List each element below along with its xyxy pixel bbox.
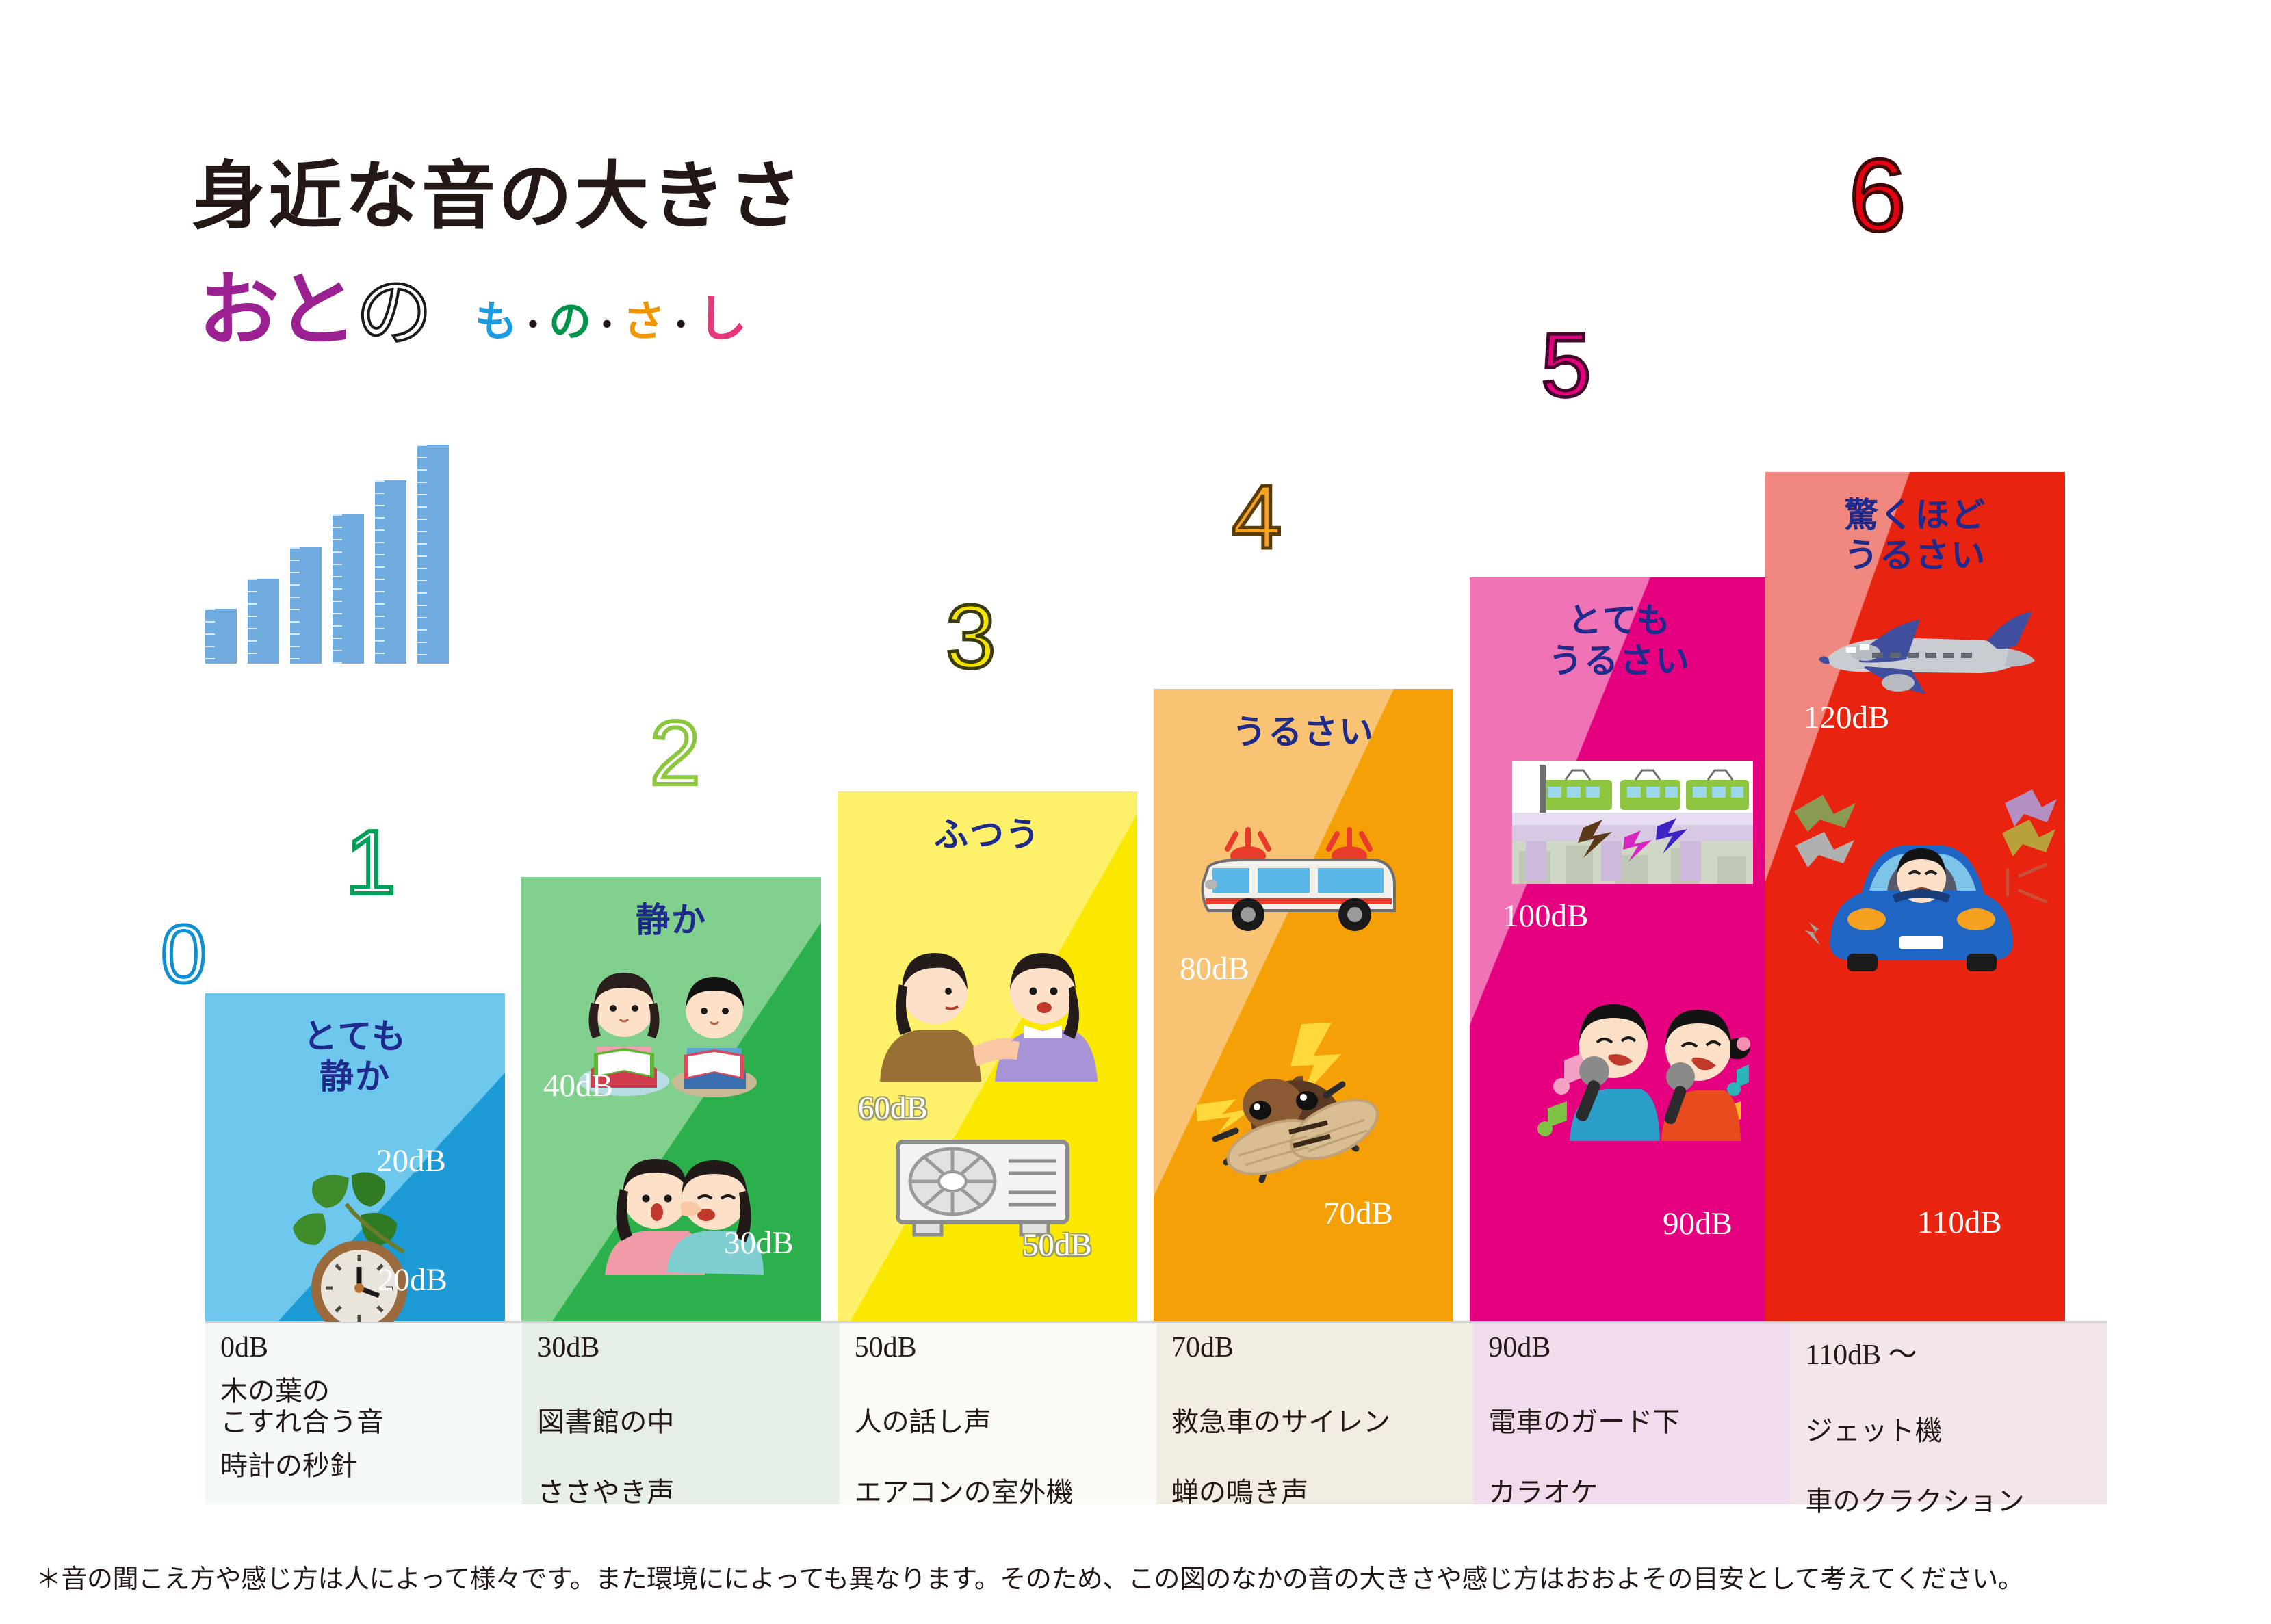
sound-source-table: 0dB 木の葉の こすれ合う音 時計の秒針 30dB 図書館の中 ささやき声 5… xyxy=(205,1323,2107,1504)
column-2-upper-db: 40dB xyxy=(543,1067,613,1104)
table-item: 時計の秒針 xyxy=(220,1450,522,1482)
table-column-0db: 0dB 木の葉の こすれ合う音 時計の秒針 xyxy=(205,1323,522,1504)
table-item: ささやき声 xyxy=(537,1477,839,1509)
table-item: 蝉の鳴き声 xyxy=(1171,1477,1473,1509)
step-number-0: 0 xyxy=(161,913,207,995)
chart-column-2: 静か 40dB xyxy=(521,877,821,1322)
column-5-lower-db: 90dB xyxy=(1663,1205,1733,1242)
table-item-line2: こすれ合う音 xyxy=(220,1407,522,1438)
table-item: エアコンの室外機 xyxy=(855,1477,1156,1509)
table-column-70db: 70dB 救急車のサイレン 蝉の鳴き声 xyxy=(1156,1323,1473,1504)
ambulance-icon xyxy=(1196,826,1401,949)
column-4-lower-db: 70dB xyxy=(1323,1195,1393,1232)
table-item: 救急車のサイレン xyxy=(1171,1406,1473,1439)
chart-column-3: ふつう 60dB xyxy=(838,791,1137,1322)
column-1-caption-line1: とても xyxy=(205,1017,505,1057)
step-number-2: 2 xyxy=(650,708,700,798)
table-item: 図書館の中 xyxy=(537,1406,839,1439)
column-6-caption: 驚くほど うるさい xyxy=(1765,495,2065,576)
column-3-caption: ふつう xyxy=(838,815,1137,855)
column-4-upper-db: 80dB xyxy=(1180,950,1249,987)
table-range-label: 50dB xyxy=(855,1331,1156,1364)
karaoke-kids-icon xyxy=(1512,986,1759,1144)
table-range-label: 110dB 〜 xyxy=(1806,1331,2107,1373)
table-item: カラオケ xyxy=(1488,1477,1790,1509)
column-1-caption: とても 静か xyxy=(205,1017,505,1097)
cicada-icon xyxy=(1186,1017,1405,1195)
column-1-upper-db: 20dB xyxy=(376,1142,446,1179)
column-5-caption-line2: うるさい xyxy=(1470,641,1769,681)
table-range-label: 90dB xyxy=(1488,1331,1790,1364)
column-1-caption-line2: 静か xyxy=(205,1057,505,1097)
column-4-caption-line1: うるさい xyxy=(1154,712,1453,752)
column-2-lower-db: 30dB xyxy=(724,1224,794,1261)
table-column-110db: 110dB 〜 ジェット機 車のクラクション xyxy=(1791,1323,2107,1504)
column-2-caption-line1: 静か xyxy=(521,900,821,941)
table-item-line1: 木の葉の xyxy=(220,1376,522,1407)
jet-plane-icon xyxy=(1791,597,2038,713)
column-6-upper-db: 120dB xyxy=(1804,699,1889,736)
column-5-caption: とても うるさい xyxy=(1470,601,1769,681)
table-range-label: 30dB xyxy=(537,1331,839,1364)
column-3-caption-line1: ふつう xyxy=(838,815,1137,855)
step-number-5: 5 xyxy=(1541,320,1591,410)
table-column-90db: 90dB 電車のガード下 カラオケ xyxy=(1473,1323,1790,1504)
column-5-upper-db: 100dB xyxy=(1503,898,1588,934)
chart-column-6: 驚くほど うるさい 120dB xyxy=(1765,472,2065,1322)
column-1-lower-db: 20dB xyxy=(378,1261,447,1298)
table-item: 電車のガード下 xyxy=(1488,1406,1790,1439)
table-item: ジェット機 xyxy=(1806,1415,2107,1448)
table-column-50db: 50dB 人の話し声 エアコンの室外機 xyxy=(840,1323,1156,1504)
table-item: 人の話し声 xyxy=(855,1406,1156,1439)
table-item: 木の葉の こすれ合う音 xyxy=(220,1376,522,1438)
column-5-caption-line1: とても xyxy=(1470,601,1769,641)
table-column-30db: 30dB 図書館の中 ささやき声 xyxy=(522,1323,839,1504)
chart-column-1: とても 静か 20dB 20dB xyxy=(205,993,505,1322)
table-range-label: 0dB xyxy=(220,1331,522,1364)
column-2-caption: 静か xyxy=(521,900,821,941)
step-number-6: 6 xyxy=(1849,144,1906,246)
car-horn-icon xyxy=(1785,774,2058,980)
table-range-label: 70dB xyxy=(1171,1331,1473,1364)
column-3-upper-db: 60dB xyxy=(858,1090,928,1127)
column-6-lower-db: 110dB xyxy=(1917,1204,2002,1241)
table-item: 車のクラクション xyxy=(1806,1486,2107,1518)
step-number-4: 4 xyxy=(1232,472,1282,562)
step-number-3: 3 xyxy=(946,592,996,682)
two-people-talking-icon xyxy=(872,947,1104,1084)
column-6-caption-line1: 驚くほど xyxy=(1765,495,2065,536)
elevated-train-icon xyxy=(1512,761,1753,884)
column-3-lower-db: 50dB xyxy=(1022,1227,1092,1263)
chart-column-5: とても うるさい xyxy=(1470,577,1769,1322)
step-number-1: 1 xyxy=(346,817,395,908)
column-6-caption-line2: うるさい xyxy=(1765,536,2065,576)
chart-column-4: うるさい 80dB xyxy=(1154,689,1453,1322)
column-4-background xyxy=(1154,689,1453,1322)
column-4-caption: うるさい xyxy=(1154,712,1453,752)
footnote-text: ＊音の聞こえ方や感じ方は人によって様々です。また環境にによっても異なります。その… xyxy=(36,1558,2246,1595)
